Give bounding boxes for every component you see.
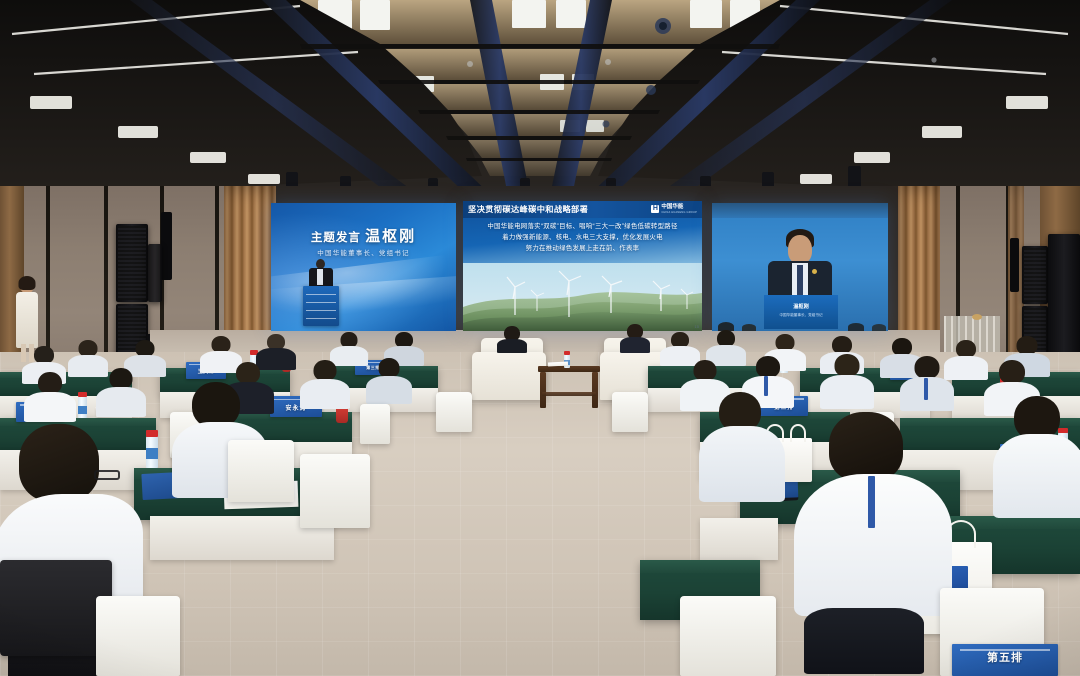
left-screen-heading-label: 主题发言 (311, 232, 361, 244)
aisle-chair (436, 392, 472, 432)
live-feed-podium-name: 温枢刚 (764, 303, 838, 310)
dignitary-seated (497, 326, 527, 346)
attendee-reading (990, 396, 1080, 516)
center-screen-page-number: 15 (695, 324, 699, 329)
center-screen-body: 中国华能电网落实“双碳”目标、唱响“三大一改”绿色低碳转型路径 着力做强新能源、… (463, 221, 702, 255)
line-array-speaker-left (161, 212, 172, 280)
live-feed-podium-title: 中国华能董事长、党组书记 (764, 313, 838, 318)
left-screen-heading: 主题发言 温枢刚 (271, 225, 456, 246)
line-array-speaker-right (1010, 238, 1019, 292)
ceiling-coffer-grid (0, 0, 1080, 196)
center-screen-title: 坚决贯彻碳达峰碳中和战略部署 (468, 203, 588, 215)
attendee-seated (700, 392, 784, 496)
logo-subtext: CHINA HUANENG GROUP (661, 211, 697, 214)
speaker-cabinet-right (1022, 246, 1048, 304)
left-screen-subtitle: 中国华能董事长、党组书记 (271, 247, 456, 257)
conference-hall-photo: 主题发言 温枢刚 中国华能董事长、党组书记 坚决贯彻碳达峰碳中和战略部署 H 中… (0, 0, 1080, 676)
huaneng-logo: H 中国华能 CHINA HUANENG GROUP (651, 205, 697, 214)
live-feed-speaker-head (788, 235, 812, 264)
speaker-cabinet-left (116, 224, 148, 302)
center-screen-body-line-1: 中国华能电网落实“双碳”目标、唱响“三大一改”绿色低碳转型路径 (463, 221, 702, 232)
logo-mark: H (651, 205, 659, 213)
left-projection-screen[interactable]: 主题发言 温枢刚 中国华能董事长、党组书记 (271, 203, 456, 331)
center-screen-title-bar: 坚决贯彻碳达峰碳中和战略部署 H 中国华能 CHINA HUANENG GROU… (463, 201, 702, 218)
aisle-chair (612, 392, 648, 432)
center-screen-body-line-2: 着力做强新能源、核电、水电三大支撑，优化发展火电 (463, 232, 702, 243)
ceiling (0, 0, 1080, 196)
center-projection-screen[interactable]: 坚决贯彻碳达峰碳中和战略部署 H 中国华能 CHINA HUANENG GROU… (463, 201, 702, 331)
foreground-attendee (796, 412, 956, 652)
right-live-feed-screen[interactable]: 温枢刚 中国华能董事长、党组书记 (712, 203, 888, 331)
left-screen-speaker-name: 温枢刚 (365, 228, 416, 245)
screen-podium (303, 286, 339, 326)
dignitary-seated (620, 324, 650, 346)
center-screen-wind-farm-image (463, 263, 702, 331)
name-placard[interactable]: 第五排 (952, 644, 1058, 676)
center-screen-body-line-3: 努力在推动绿色发展上走在前、作表率 (463, 243, 702, 254)
live-feed-podium: 温枢刚 中国华能董事长、党组书记 (764, 295, 838, 329)
wall-lamp (972, 314, 982, 320)
